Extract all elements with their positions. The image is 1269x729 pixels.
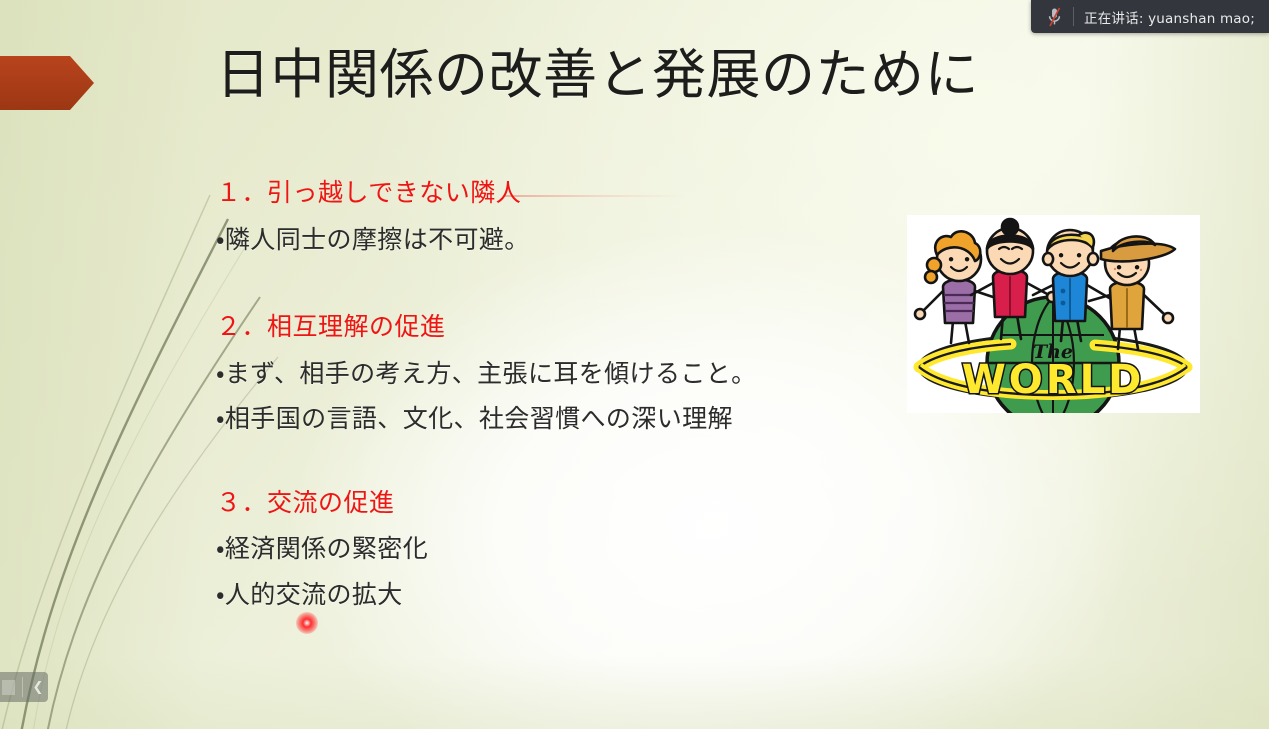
clipart-children-world: The WORLD: [907, 215, 1200, 413]
bullet-line: ・経済関係の緊密化: [216, 526, 916, 572]
page-title: 日中関係の改善と発展のために: [216, 44, 979, 107]
microphone-muted-icon[interactable]: [1041, 7, 1067, 27]
section-2-lines: ・まず、相手の考え方、主張に耳を傾けること。 ・相手国の言語、文化、社会習慣への…: [216, 351, 916, 442]
speaker-name-label: 正在讲话: yuanshan mao;: [1084, 7, 1255, 27]
speaker-divider: [1073, 7, 1074, 26]
slide-body: １．引っ越しできない隣人 ・隣人同士の摩擦は不可避。 ２．相互理解の促進 ・まず…: [216, 176, 916, 637]
floating-control-stub[interactable]: ❮: [0, 672, 48, 702]
bullet-line: ・隣人同士の摩擦は不可避。: [216, 217, 916, 263]
section-3-heading: ３．交流の促進: [216, 486, 395, 521]
bullet-line: ・まず、相手の考え方、主張に耳を傾けること。: [216, 351, 916, 397]
active-speaker-banner[interactable]: 正在讲话: yuanshan mao;: [1031, 0, 1269, 33]
section-2: ２．相互理解の促進 ・まず、相手の考え方、主張に耳を傾けること。 ・相手国の言語…: [216, 310, 916, 442]
clipart-caption-large: WORLD: [962, 357, 1145, 403]
section-1-lines: ・隣人同士の摩擦は不可避。: [216, 217, 916, 263]
control-stub-box-icon: [2, 680, 15, 695]
bullet-line: ・相手国の言語、文化、社会習慣への深い理解: [216, 396, 916, 442]
section-1-heading: １．引っ越しできない隣人: [216, 176, 521, 211]
section-2-heading: ２．相互理解の促進: [216, 310, 446, 345]
control-stub-divider: [22, 677, 23, 697]
section-3-lines: ・経済関係の緊密化 ・人的交流の拡大: [216, 526, 916, 617]
presentation-screen: 日中関係の改善と発展のために １．引っ越しできない隣人 ・隣人同士の摩擦は不可避…: [0, 0, 1269, 729]
section-3: ３．交流の促進 ・経済関係の緊密化 ・人的交流の拡大: [216, 486, 916, 618]
bullet-line: ・人的交流の拡大: [216, 572, 916, 618]
chevron-left-icon[interactable]: ❮: [30, 681, 46, 694]
section-1: １．引っ越しできない隣人 ・隣人同士の摩擦は不可避。: [216, 176, 916, 262]
